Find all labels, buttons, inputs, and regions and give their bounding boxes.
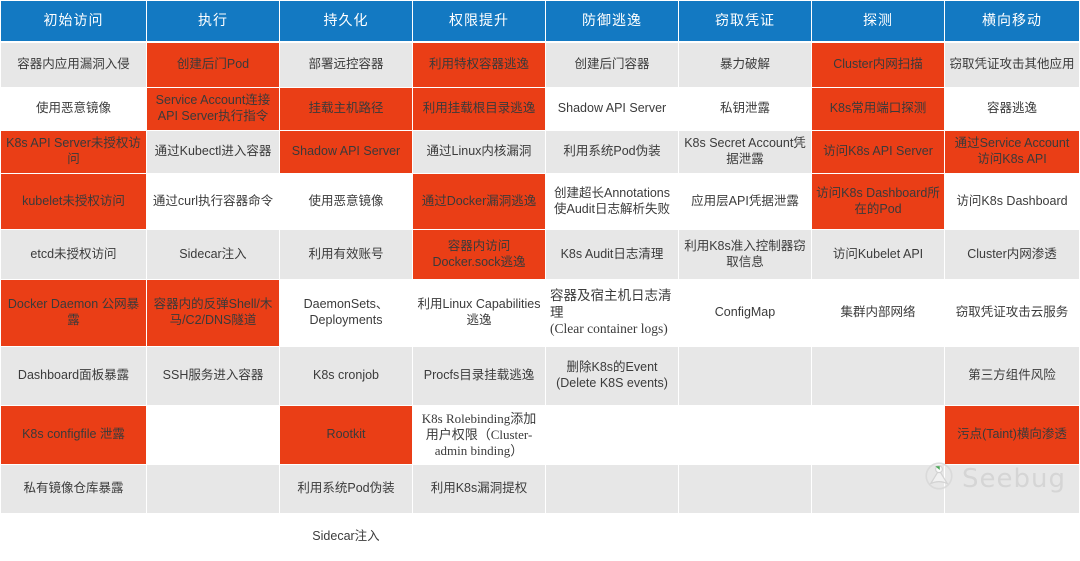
matrix-empty-cell: [147, 465, 280, 514]
matrix-technique-cell[interactable]: 利用挂载根目录逃逸: [413, 88, 546, 131]
matrix-empty-cell: [812, 465, 945, 514]
matrix-technique-cell[interactable]: 创建后门Pod: [147, 42, 280, 88]
matrix-column-header: 窃取凭证: [679, 1, 812, 43]
matrix-column-header: 横向移动: [945, 1, 1080, 43]
matrix-technique-cell[interactable]: Sidecar注入: [147, 230, 280, 280]
matrix-column-header: 权限提升: [413, 1, 546, 43]
matrix-technique-cell[interactable]: 访问K8s Dashboard: [945, 174, 1080, 230]
table-row: 私有镜像仓库暴露利用系统Pod伪装利用K8s漏洞提权: [1, 465, 1080, 514]
matrix-technique-cell[interactable]: 访问Kubelet API: [812, 230, 945, 280]
matrix-technique-cell[interactable]: 利用有效账号: [280, 230, 413, 280]
matrix-empty-cell: [147, 514, 280, 561]
matrix-technique-cell[interactable]: 使用恶意镜像: [1, 88, 147, 131]
matrix-technique-cell[interactable]: 容器内访问Docker.sock逃逸: [413, 230, 546, 280]
matrix-empty-cell: [679, 465, 812, 514]
matrix-technique-cell[interactable]: 集群内部网络: [812, 280, 945, 347]
matrix-empty-cell: [1, 514, 147, 561]
matrix-technique-cell[interactable]: 第三方组件风险: [945, 347, 1080, 406]
matrix-technique-cell[interactable]: 使用恶意镜像: [280, 174, 413, 230]
matrix-technique-cell[interactable]: 访问K8s Dashboard所在的Pod: [812, 174, 945, 230]
matrix-technique-cell[interactable]: 通过Linux内核漏洞: [413, 131, 546, 174]
matrix-technique-cell[interactable]: 创建后门容器: [546, 42, 679, 88]
matrix-empty-cell: [679, 514, 812, 561]
matrix-technique-cell[interactable]: 利用K8s准入控制器窃取信息: [679, 230, 812, 280]
matrix-technique-cell[interactable]: Cluster内网扫描: [812, 42, 945, 88]
matrix-technique-cell[interactable]: 利用K8s漏洞提权: [413, 465, 546, 514]
matrix-body: 容器内应用漏洞入侵创建后门Pod部署远控容器利用特权容器逃逸创建后门容器暴力破解…: [1, 42, 1080, 561]
matrix-technique-cell[interactable]: K8s Secret Account凭据泄露: [679, 131, 812, 174]
matrix-empty-cell: [679, 347, 812, 406]
matrix-technique-cell[interactable]: 通过Docker漏洞逃逸: [413, 174, 546, 230]
table-row: Dashboard面板暴露SSH服务进入容器K8s cronjobProcfs目…: [1, 347, 1080, 406]
matrix-technique-cell[interactable]: 窃取凭证攻击其他应用: [945, 42, 1080, 88]
matrix-technique-cell[interactable]: Shadow API Server: [546, 88, 679, 131]
matrix-empty-cell: [812, 406, 945, 465]
matrix-technique-cell[interactable]: 容器内应用漏洞入侵: [1, 42, 147, 88]
matrix-column-header: 持久化: [280, 1, 413, 43]
matrix-technique-cell[interactable]: K8s常用端口探测: [812, 88, 945, 131]
matrix-technique-cell[interactable]: K8s Audit日志清理: [546, 230, 679, 280]
matrix-technique-cell[interactable]: DaemonSets、Deployments: [280, 280, 413, 347]
matrix-technique-cell[interactable]: 容器逃逸: [945, 88, 1080, 131]
matrix-technique-cell[interactable]: Dashboard面板暴露: [1, 347, 147, 406]
matrix-empty-cell: [546, 465, 679, 514]
table-row: kubelet未授权访问通过curl执行容器命令使用恶意镜像通过Docker漏洞…: [1, 174, 1080, 230]
matrix-column-header: 初始访问: [1, 1, 147, 43]
matrix-column-header: 执行: [147, 1, 280, 43]
matrix-technique-cell[interactable]: Docker Daemon 公网暴露: [1, 280, 147, 347]
matrix-technique-cell[interactable]: ConfigMap: [679, 280, 812, 347]
matrix-technique-cell[interactable]: etcd未授权访问: [1, 230, 147, 280]
matrix-empty-cell: [546, 406, 679, 465]
matrix-empty-cell: [147, 406, 280, 465]
matrix-technique-cell[interactable]: kubelet未授权访问: [1, 174, 147, 230]
matrix-empty-cell: [812, 347, 945, 406]
matrix-technique-cell[interactable]: 私有镜像仓库暴露: [1, 465, 147, 514]
matrix-technique-cell[interactable]: 私钥泄露: [679, 88, 812, 131]
matrix-technique-cell[interactable]: Shadow API Server: [280, 131, 413, 174]
attack-matrix-table: 初始访问执行持久化权限提升防御逃逸窃取凭证探测横向移动 容器内应用漏洞入侵创建后…: [0, 0, 1080, 561]
matrix-column-header: 探测: [812, 1, 945, 43]
matrix-technique-cell[interactable]: 利用系统Pod伪装: [546, 131, 679, 174]
matrix-technique-cell[interactable]: 利用Linux Capabilities逃逸: [413, 280, 546, 347]
matrix-technique-cell[interactable]: Cluster内网渗透: [945, 230, 1080, 280]
matrix-technique-cell[interactable]: 挂载主机路径: [280, 88, 413, 131]
matrix-technique-cell[interactable]: Service Account连接API Server执行指令: [147, 88, 280, 131]
matrix-technique-cell[interactable]: 通过curl执行容器命令: [147, 174, 280, 230]
matrix-technique-cell[interactable]: 污点(Taint)横向渗透: [945, 406, 1080, 465]
table-row: etcd未授权访问Sidecar注入利用有效账号容器内访问Docker.sock…: [1, 230, 1080, 280]
table-row: 使用恶意镜像Service Account连接API Server执行指令挂载主…: [1, 88, 1080, 131]
matrix-technique-cell[interactable]: K8s configfile 泄露: [1, 406, 147, 465]
matrix-technique-cell[interactable]: 创建超长Annotations使Audit日志解析失败: [546, 174, 679, 230]
matrix-empty-cell: [945, 514, 1080, 561]
matrix-technique-cell[interactable]: K8s Rolebinding添加用户权限（Cluster-admin bind…: [413, 406, 546, 465]
matrix-empty-cell: [679, 406, 812, 465]
matrix-technique-cell[interactable]: 部署远控容器: [280, 42, 413, 88]
table-row: K8s API Server未授权访问通过Kubectl进入容器Shadow A…: [1, 131, 1080, 174]
table-row: Docker Daemon 公网暴露容器内的反弹Shell/木马/C2/DNS隧…: [1, 280, 1080, 347]
matrix-empty-cell: [413, 514, 546, 561]
matrix-technique-cell[interactable]: Procfs目录挂载逃逸: [413, 347, 546, 406]
matrix-technique-cell[interactable]: K8s API Server未授权访问: [1, 131, 147, 174]
matrix-technique-cell[interactable]: 删除K8s的Event(Delete K8S events): [546, 347, 679, 406]
matrix-technique-cell[interactable]: 通过Service Account访问K8s API: [945, 131, 1080, 174]
matrix-empty-cell: [546, 514, 679, 561]
matrix-technique-cell[interactable]: 利用系统Pod伪装: [280, 465, 413, 514]
matrix-technique-cell[interactable]: 访问K8s API Server: [812, 131, 945, 174]
matrix-technique-cell[interactable]: 窃取凭证攻击云服务: [945, 280, 1080, 347]
matrix-technique-cell[interactable]: 容器及宿主机日志清理(Clear container logs): [546, 280, 679, 347]
matrix-technique-cell[interactable]: Sidecar注入: [280, 514, 413, 561]
table-row: K8s configfile 泄露RootkitK8s Rolebinding添…: [1, 406, 1080, 465]
table-row: 容器内应用漏洞入侵创建后门Pod部署远控容器利用特权容器逃逸创建后门容器暴力破解…: [1, 42, 1080, 88]
matrix-technique-cell[interactable]: 通过Kubectl进入容器: [147, 131, 280, 174]
matrix-technique-cell[interactable]: 应用层API凭据泄露: [679, 174, 812, 230]
matrix-column-header: 防御逃逸: [546, 1, 679, 43]
matrix-technique-cell[interactable]: K8s cronjob: [280, 347, 413, 406]
matrix-empty-cell: [945, 465, 1080, 514]
matrix-technique-cell[interactable]: Rootkit: [280, 406, 413, 465]
matrix-header-row: 初始访问执行持久化权限提升防御逃逸窃取凭证探测横向移动: [1, 1, 1080, 43]
matrix-technique-cell[interactable]: 容器内的反弹Shell/木马/C2/DNS隧道: [147, 280, 280, 347]
matrix-technique-cell[interactable]: SSH服务进入容器: [147, 347, 280, 406]
matrix-technique-cell[interactable]: 利用特权容器逃逸: [413, 42, 546, 88]
matrix-empty-cell: [812, 514, 945, 561]
table-row: Sidecar注入: [1, 514, 1080, 561]
matrix-technique-cell[interactable]: 暴力破解: [679, 42, 812, 88]
